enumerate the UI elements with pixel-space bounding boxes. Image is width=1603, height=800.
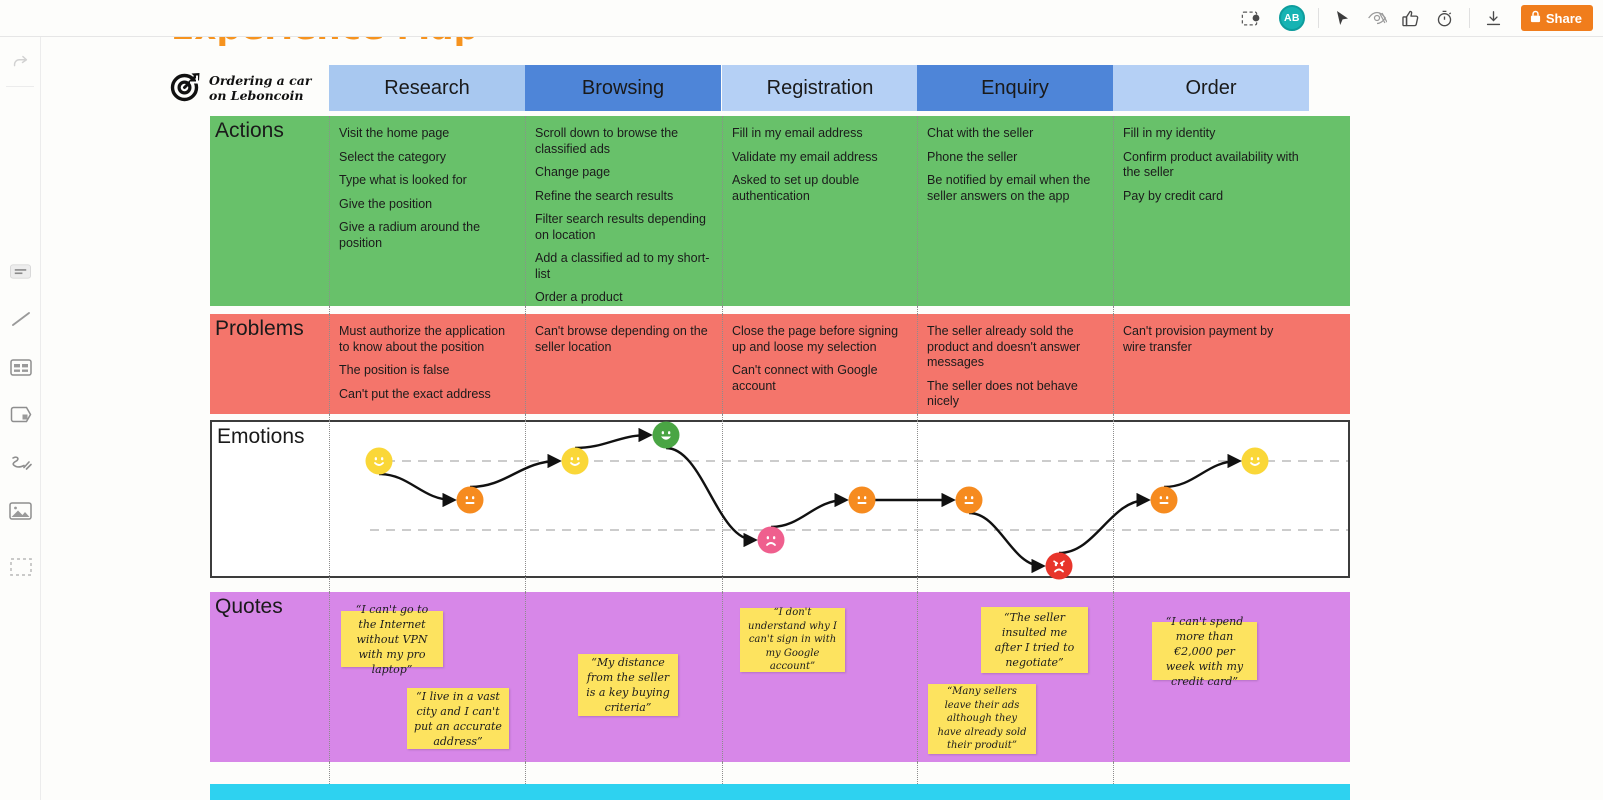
board-canvas[interactable]: Experience Map Ordering a car on Lebonco… <box>41 0 1603 800</box>
download-icon[interactable] <box>1477 4 1511 32</box>
toolbar-right-group: AB <box>1233 4 1603 32</box>
column-separator <box>329 762 330 784</box>
emotion-face-happy[interactable] <box>562 448 589 475</box>
cell-item: The seller already sold the product and … <box>927 324 1103 371</box>
cell-item: Filter search results depending on locat… <box>535 212 711 243</box>
column-separator <box>1113 762 1114 784</box>
cell-item: Can't provision payment by wire transfer <box>1123 324 1299 355</box>
quote-sticky-note[interactable]: “I don't understand why I can't sign in … <box>740 608 845 672</box>
emotions-curve <box>210 420 1350 578</box>
phase-header-label: Research <box>384 77 470 100</box>
cell-item: Validate my email address <box>732 150 908 166</box>
column-separator <box>722 762 723 784</box>
cell-item: Refine the search results <box>535 189 711 205</box>
column-separator <box>329 116 330 306</box>
row-label-quotes: Quotes <box>215 595 283 619</box>
column-separator <box>917 314 918 414</box>
column-separator <box>329 314 330 414</box>
redo-icon[interactable] <box>0 42 41 82</box>
sticky-note-icon[interactable] <box>0 251 41 291</box>
phase-header-label: Order <box>1185 77 1236 100</box>
left-sidebar <box>0 0 41 800</box>
cell-item: Can't connect with Google account <box>732 363 908 394</box>
quote-text: “The seller insulted me after I tried to… <box>988 610 1081 670</box>
row-label-problems: Problems <box>215 317 304 341</box>
emotion-face-neutral[interactable] <box>1151 487 1178 514</box>
emotion-face-neutral[interactable] <box>956 487 983 514</box>
frame-focus-icon[interactable] <box>1233 4 1267 32</box>
cell-actions-2[interactable]: Fill in my email addressValidate my emai… <box>722 116 918 306</box>
emotion-face-neutral[interactable] <box>849 487 876 514</box>
quote-sticky-note[interactable]: “I live in a vast city and I can't put a… <box>407 688 509 749</box>
cell-item: Can't browse depending on the seller loc… <box>535 324 711 355</box>
cell-problems-3[interactable]: The seller already sold the product and … <box>917 314 1113 414</box>
cell-problems-1[interactable]: Can't browse depending on the seller loc… <box>525 314 721 414</box>
emotion-face-neutral[interactable] <box>457 487 484 514</box>
quote-text: “Many sellers leave their ads although t… <box>935 685 1029 753</box>
column-separator <box>917 592 918 762</box>
persona-label: Ordering a car on Leboncoin <box>209 73 311 103</box>
line-icon[interactable] <box>0 299 41 339</box>
column-separator <box>722 592 723 762</box>
share-button-label: Share <box>1546 11 1582 26</box>
shape-tag-icon[interactable] <box>0 395 41 435</box>
cell-item: Asked to set up double authentication <box>732 173 908 204</box>
cell-item: Add a classified ad to my short-list <box>535 251 711 282</box>
emotion-face-sad[interactable] <box>758 527 785 554</box>
cell-item: Confirm product availability with the se… <box>1123 150 1299 181</box>
cell-item: Type what is looked for <box>339 173 515 189</box>
column-separator <box>525 116 526 306</box>
avatar[interactable]: AB <box>1279 5 1305 31</box>
persona-line-1: Ordering a car <box>209 73 311 88</box>
quote-sticky-note[interactable]: “My distance from the seller is a key bu… <box>578 654 678 716</box>
quote-sticky-note[interactable]: “The seller insulted me after I tried to… <box>981 607 1088 673</box>
top-toolbar: AB <box>0 0 1603 37</box>
cell-actions-4[interactable]: Fill in my identityConfirm product avail… <box>1113 116 1309 306</box>
column-separator <box>917 578 918 592</box>
column-separator <box>329 578 330 592</box>
column-separator <box>917 116 918 306</box>
column-separator <box>722 314 723 414</box>
cell-item: Must authorize the application to know a… <box>339 324 515 355</box>
phase-header-label: Browsing <box>582 77 664 100</box>
select-area-icon[interactable] <box>0 547 41 587</box>
toolbar-divider-2 <box>1469 8 1470 28</box>
toolbar-divider <box>1318 8 1319 28</box>
column-separator <box>1113 314 1114 414</box>
cell-item: Phone the seller <box>927 150 1103 166</box>
emotion-face-happy[interactable] <box>366 448 393 475</box>
column-separator <box>1113 592 1114 762</box>
column-separator <box>525 592 526 762</box>
cell-item: The seller does not behave nicely <box>927 379 1103 410</box>
quote-text: “My distance from the seller is a key bu… <box>585 655 671 715</box>
quote-text: “I can't spend more than €2,000 per week… <box>1159 614 1250 689</box>
column-separator <box>917 306 918 314</box>
cell-item: Pay by credit card <box>1123 189 1299 205</box>
row-actions[interactable]: ActionsVisit the home pageSelect the cat… <box>210 116 1350 306</box>
cell-item: Change page <box>535 165 711 181</box>
column-separator <box>329 592 330 762</box>
column-separator <box>722 306 723 314</box>
persona-badge: Ordering a car on Leboncoin <box>170 65 327 111</box>
cell-problems-4[interactable]: Can't provision payment by wire transfer <box>1113 314 1309 414</box>
phase-header-browsing[interactable]: Browsing <box>525 65 721 111</box>
row-opportunities-partial[interactable] <box>210 784 1350 800</box>
pen-draw-icon[interactable] <box>0 443 41 483</box>
cell-item: Scroll down to browse the classified ads <box>535 126 711 157</box>
cursor-pointer-icon[interactable] <box>1326 4 1360 32</box>
cell-item: Fill in my email address <box>732 126 908 142</box>
phase-header-label: Enquiry <box>981 77 1049 100</box>
row-problems[interactable]: ProblemsMust authorize the application t… <box>210 314 1350 414</box>
cell-problems-0[interactable]: Must authorize the application to know a… <box>329 314 525 414</box>
phase-header-enquiry[interactable]: Enquiry <box>917 65 1113 111</box>
column-separator <box>917 762 918 784</box>
column-separator <box>722 578 723 592</box>
sidebar-divider <box>6 86 34 87</box>
quote-text: “I don't understand why I can't sign in … <box>747 606 838 674</box>
quote-sticky-note[interactable]: “Many sellers leave their ads although t… <box>928 684 1036 754</box>
phase-header-order[interactable]: Order <box>1113 65 1309 111</box>
share-button[interactable]: Share <box>1521 5 1593 31</box>
phase-header-registration[interactable]: Registration <box>722 65 918 111</box>
column-separator <box>1113 306 1114 314</box>
phase-header-research[interactable]: Research <box>329 65 525 111</box>
column-separator <box>1113 116 1114 306</box>
image-icon[interactable] <box>0 491 41 531</box>
cell-actions-0[interactable]: Visit the home pageSelect the categoryTy… <box>329 116 525 306</box>
emotion-face-angry[interactable] <box>1046 553 1073 580</box>
avatar-initials: AB <box>1284 12 1300 24</box>
eye-slash-icon[interactable] <box>1360 4 1394 32</box>
column-separator <box>722 116 723 306</box>
cell-item: Can't put the exact address <box>339 387 515 403</box>
cell-item: Give the position <box>339 197 515 213</box>
cell-item: Close the page before signing up and loo… <box>732 324 908 355</box>
column-separator <box>329 306 330 314</box>
quote-sticky-note[interactable]: “I can't spend more than €2,000 per week… <box>1152 622 1257 680</box>
cell-actions-1[interactable]: Scroll down to browse the classified ads… <box>525 116 721 306</box>
column-separator <box>1113 578 1114 592</box>
lock-icon <box>1530 10 1541 26</box>
row-label-actions: Actions <box>215 119 284 143</box>
cell-item: Select the category <box>339 150 515 166</box>
phase-header-label: Registration <box>767 77 874 100</box>
timer-icon[interactable] <box>1428 4 1462 32</box>
persona-line-2: on Leboncoin <box>209 88 311 103</box>
column-separator <box>525 578 526 592</box>
target-arrow-icon <box>170 70 202 107</box>
cell-item: Visit the home page <box>339 126 515 142</box>
quote-text: “I live in a vast city and I can't put a… <box>414 689 502 749</box>
cell-actions-3[interactable]: Chat with the sellerPhone the sellerBe n… <box>917 116 1113 306</box>
thumbs-up-icon[interactable] <box>1394 4 1428 32</box>
cell-item: Give a radium around the position <box>339 220 515 251</box>
cell-item: Order a product <box>535 290 711 306</box>
cell-item: Fill in my identity <box>1123 126 1299 142</box>
emotion-face-happy[interactable] <box>1242 448 1269 475</box>
cell-problems-2[interactable]: Close the page before signing up and loo… <box>722 314 918 414</box>
quote-sticky-note[interactable]: “I can't go to the Internet without VPN … <box>341 611 443 667</box>
cell-item: Chat with the seller <box>927 126 1103 142</box>
frame-icon[interactable] <box>0 347 41 387</box>
cell-item: Be notified by email when the seller ans… <box>927 173 1103 204</box>
column-separator <box>525 762 526 784</box>
experience-map-app: AB <box>0 0 1603 800</box>
column-separator <box>525 306 526 314</box>
quote-text: “I can't go to the Internet without VPN … <box>348 602 436 677</box>
column-separator <box>525 314 526 414</box>
emotion-face-very-happy[interactable] <box>653 422 680 449</box>
cell-item: The position is false <box>339 363 515 379</box>
